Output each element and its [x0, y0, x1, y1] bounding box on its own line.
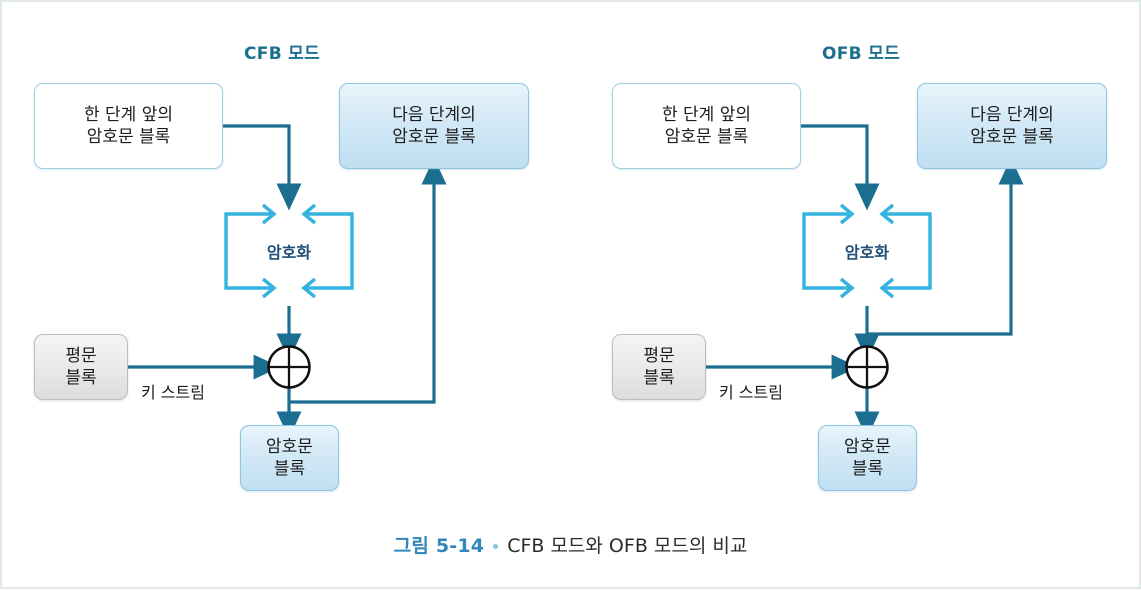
cfb-prev-cipher-block[interactable]: 한 단계 앞의 암호문 블록 — [34, 83, 223, 169]
cfb-plaintext-line1: 평문 — [65, 345, 96, 367]
cfb-cipher-output-line1: 암호문 — [266, 436, 313, 458]
cfb-cipher-output-block[interactable]: 암호문 블록 — [240, 425, 339, 491]
cfb-encrypt-block[interactable]: 암호화 — [226, 214, 352, 288]
cfb-keystream-label: 키 스트림 — [141, 379, 205, 403]
ofb-next-cipher-block[interactable]: 다음 단계의 암호문 블록 — [917, 83, 1107, 169]
ofb-cipher-output-block[interactable]: 암호문 블록 — [818, 425, 917, 491]
caption-dot-separator — [493, 544, 498, 549]
cfb-next-cipher-line1: 다음 단계의 — [392, 104, 476, 126]
ofb-cipher-output-line1: 암호문 — [844, 436, 891, 458]
ofb-xor-symbol — [847, 347, 888, 388]
ofb-encrypt-block[interactable]: 암호화 — [804, 214, 930, 288]
ofb-plaintext-block[interactable]: 평문 블록 — [612, 334, 706, 400]
ofb-prev-cipher-line2: 암호문 블록 — [665, 126, 749, 148]
ofb-plaintext-line1: 평문 — [643, 345, 674, 367]
ofb-panel-title: OFB 모드 — [822, 39, 900, 64]
cfb-xor-symbol — [269, 347, 310, 388]
cfb-next-cipher-line2: 암호문 블록 — [392, 126, 476, 148]
cfb-encrypt-label: 암호화 — [226, 239, 352, 263]
ofb-keystream-label: 키 스트림 — [719, 379, 783, 403]
cfb-edge-prev-to-encrypt — [223, 126, 289, 197]
ofb-plaintext-line2: 블록 — [643, 367, 674, 389]
cfb-panel-title: CFB 모드 — [244, 39, 320, 64]
ofb-cipher-output-line2: 블록 — [852, 458, 883, 480]
ofb-prev-cipher-block[interactable]: 한 단계 앞의 암호문 블록 — [612, 83, 801, 169]
ofb-prev-cipher-line1: 한 단계 앞의 — [662, 104, 751, 126]
cfb-prev-cipher-line1: 한 단계 앞의 — [84, 104, 173, 126]
cfb-cipher-output-line2: 블록 — [274, 458, 305, 480]
cfb-prev-cipher-line2: 암호문 블록 — [87, 126, 171, 148]
cfb-next-cipher-block[interactable]: 다음 단계의 암호문 블록 — [339, 83, 529, 169]
figure-container: CFB 모드 OFB 모드 한 단계 앞의 암호문 블록 다음 단계의 암호문 … — [0, 0, 1141, 589]
ofb-encrypt-label: 암호화 — [804, 239, 930, 263]
figure-caption: 그림 5-14CFB 모드와 OFB 모드의 비교 — [1, 531, 1140, 558]
cfb-plaintext-line2: 블록 — [65, 367, 96, 389]
cfb-plaintext-block[interactable]: 평문 블록 — [34, 334, 128, 400]
caption-text: CFB 모드와 OFB 모드의 비교 — [507, 535, 747, 557]
caption-number: 그림 5-14 — [394, 535, 485, 557]
ofb-edge-prev-to-encrypt — [801, 126, 867, 197]
ofb-next-cipher-line1: 다음 단계의 — [970, 104, 1054, 126]
ofb-next-cipher-line2: 암호문 블록 — [970, 126, 1054, 148]
